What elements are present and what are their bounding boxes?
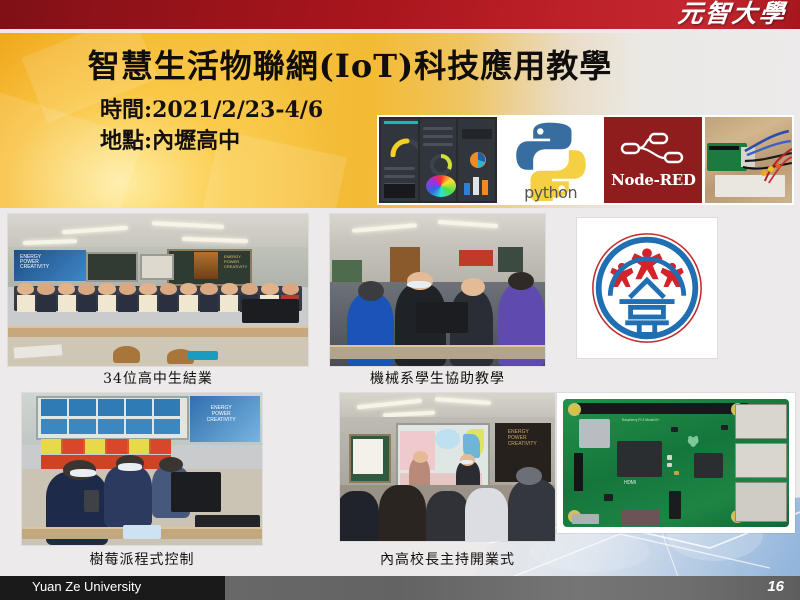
neili-senior-high-school-emblem — [577, 218, 717, 358]
caption-principal-opening: 內高校長主持開業式 — [330, 549, 565, 569]
header-bar: 元智大學 — [0, 0, 800, 31]
caption-mech-students: 機械系學生協助教學 — [320, 368, 555, 388]
python-wordmark: python — [500, 183, 602, 202]
technology-image-strip: python python Node-RED — [377, 115, 794, 205]
slide-canvas: 元智大學 智慧生活物聯網(IoT)科技應用教學 時間:2021/2/23-4/6… — [0, 0, 800, 600]
dashboard-column-3 — [458, 119, 495, 201]
hdmi-port-label: HDMI — [624, 480, 636, 486]
node-red-wordmark: Node-RED — [611, 171, 695, 189]
dashboard-column-1 — [381, 119, 418, 201]
photo-graduation: ENERGYPOWERCREATIVITY ENERGYPOWERCREATIV… — [8, 214, 308, 366]
photo-mech-students-assist — [330, 214, 545, 366]
footer-bar: Yuan Ze University 16 — [0, 576, 800, 600]
university-logo-text: 元智大學 — [676, 0, 787, 29]
raspberry-pi-breadboard-photo — [705, 117, 792, 203]
photo-principal-opening: ENERGYPOWERCREATIVITY — [340, 393, 555, 541]
caption-raspberry-pi: 樹莓派程式控制 — [12, 549, 272, 569]
event-place: 地點:內壢高中 — [100, 126, 323, 157]
caption-graduation: 34位高中生結業 — [8, 368, 308, 388]
node-red-dashboard-screenshot — [379, 117, 497, 203]
photo-raspberry-pi-programming: ENERGYPOWERCREATIVITY — [22, 393, 262, 545]
slide-title: 智慧生活物聯網(IoT)科技應用教學 — [0, 41, 700, 87]
pcb-surface: Raspberry Pi 3 Model B+ HDMI — [563, 399, 789, 527]
page-number: 16 — [767, 578, 784, 595]
node-red-flow-icon — [620, 131, 686, 167]
python-logo: python python — [500, 117, 602, 203]
event-meta: 時間:2021/2/23-4/6 地點:內壢高中 — [100, 95, 323, 157]
dashboard-column-2 — [420, 119, 457, 201]
raspberry-pi-board-photo: Raspberry Pi 3 Model B+ HDMI — [557, 393, 795, 533]
node-red-logo: Node-RED — [604, 117, 702, 203]
event-time: 時間:2021/2/23-4/6 — [100, 95, 323, 126]
footer-university-name: Yuan Ze University — [32, 579, 141, 594]
pcb-silk-text: Raspberry Pi 3 Model B+ — [622, 418, 660, 422]
